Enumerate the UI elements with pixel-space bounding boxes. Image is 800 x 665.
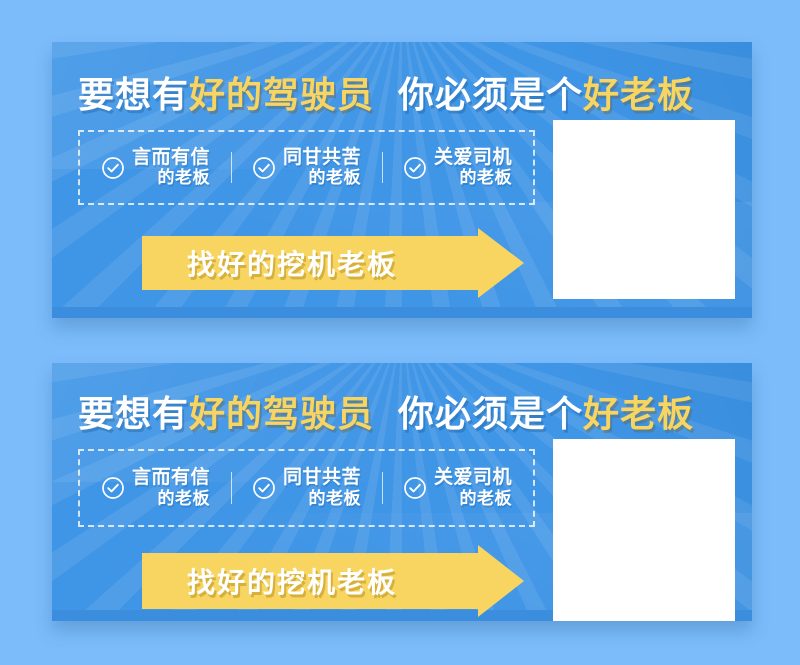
qr-code-placeholder[interactable] bbox=[553, 439, 735, 621]
feature-text: 言而有信 的老板 bbox=[132, 468, 210, 508]
banner-content: 要想有好的驾驶员你必须是个好老板 言而有信 的老板 同甘共 bbox=[52, 42, 752, 318]
feature-subtitle: 的老板 bbox=[460, 169, 513, 187]
feature-text: 关爱司机 的老板 bbox=[434, 148, 512, 188]
feature-title: 言而有信 bbox=[132, 468, 210, 489]
feature-item: 关爱司机 的老板 bbox=[382, 468, 533, 508]
feature-text: 同甘共苦 的老板 bbox=[283, 468, 361, 508]
feature-title: 同甘共苦 bbox=[283, 468, 361, 489]
feature-title: 关爱司机 bbox=[434, 468, 512, 489]
feature-subtitle: 的老板 bbox=[158, 169, 211, 187]
feature-item: 言而有信 的老板 bbox=[80, 468, 231, 508]
right-arrow-shape bbox=[142, 545, 524, 617]
feature-subtitle: 的老板 bbox=[158, 490, 211, 508]
headline-highlight-1: 好的驾驶员 bbox=[189, 74, 374, 115]
headline-highlight-2: 好老板 bbox=[583, 393, 694, 434]
banner-content: 要想有好的驾驶员你必须是个好老板 言而有信 的老板 同甘共 bbox=[52, 363, 752, 621]
headline-part-1: 要想有 bbox=[78, 393, 189, 434]
cta-arrow-button[interactable]: 找好的挖机老板 bbox=[142, 228, 524, 298]
cta-arrow-button[interactable]: 找好的挖机老板 bbox=[142, 545, 524, 617]
feature-title: 言而有信 bbox=[132, 148, 210, 169]
qr-code-placeholder[interactable] bbox=[553, 120, 735, 299]
feature-item: 关爱司机 的老板 bbox=[382, 148, 533, 188]
check-circle-icon bbox=[252, 476, 276, 500]
feature-item: 同甘共苦 的老板 bbox=[231, 148, 382, 188]
check-circle-icon bbox=[403, 476, 427, 500]
feature-text: 言而有信 的老板 bbox=[132, 148, 210, 188]
promo-banner-1: 要想有好的驾驶员你必须是个好老板 言而有信 的老板 同甘共 bbox=[52, 42, 752, 318]
right-arrow-shape bbox=[142, 228, 524, 298]
check-circle-icon bbox=[101, 476, 125, 500]
headline-part-2: 你必须是个 bbox=[398, 74, 583, 115]
feature-item: 同甘共苦 的老板 bbox=[231, 468, 382, 508]
feature-title: 关爱司机 bbox=[434, 148, 512, 169]
feature-list: 言而有信 的老板 同甘共苦 的老板 bbox=[78, 449, 535, 527]
headline: 要想有好的驾驶员你必须是个好老板 bbox=[78, 385, 694, 437]
headline-highlight-2: 好老板 bbox=[583, 74, 694, 115]
feature-subtitle: 的老板 bbox=[309, 490, 362, 508]
feature-list: 言而有信 的老板 同甘共苦 的老板 bbox=[78, 130, 535, 205]
check-circle-icon bbox=[252, 156, 276, 180]
feature-subtitle: 的老板 bbox=[309, 169, 362, 187]
feature-item: 言而有信 的老板 bbox=[80, 148, 231, 188]
promo-banner-2: 要想有好的驾驶员你必须是个好老板 言而有信 的老板 同甘共 bbox=[52, 363, 752, 621]
headline-highlight-1: 好的驾驶员 bbox=[189, 393, 374, 434]
feature-title: 同甘共苦 bbox=[283, 148, 361, 169]
check-circle-icon bbox=[101, 156, 125, 180]
feature-text: 同甘共苦 的老板 bbox=[283, 148, 361, 188]
feature-subtitle: 的老板 bbox=[460, 490, 513, 508]
check-circle-icon bbox=[403, 156, 427, 180]
feature-text: 关爱司机 的老板 bbox=[434, 468, 512, 508]
headline-part-2: 你必须是个 bbox=[398, 393, 583, 434]
headline: 要想有好的驾驶员你必须是个好老板 bbox=[78, 66, 694, 118]
headline-part-1: 要想有 bbox=[78, 74, 189, 115]
